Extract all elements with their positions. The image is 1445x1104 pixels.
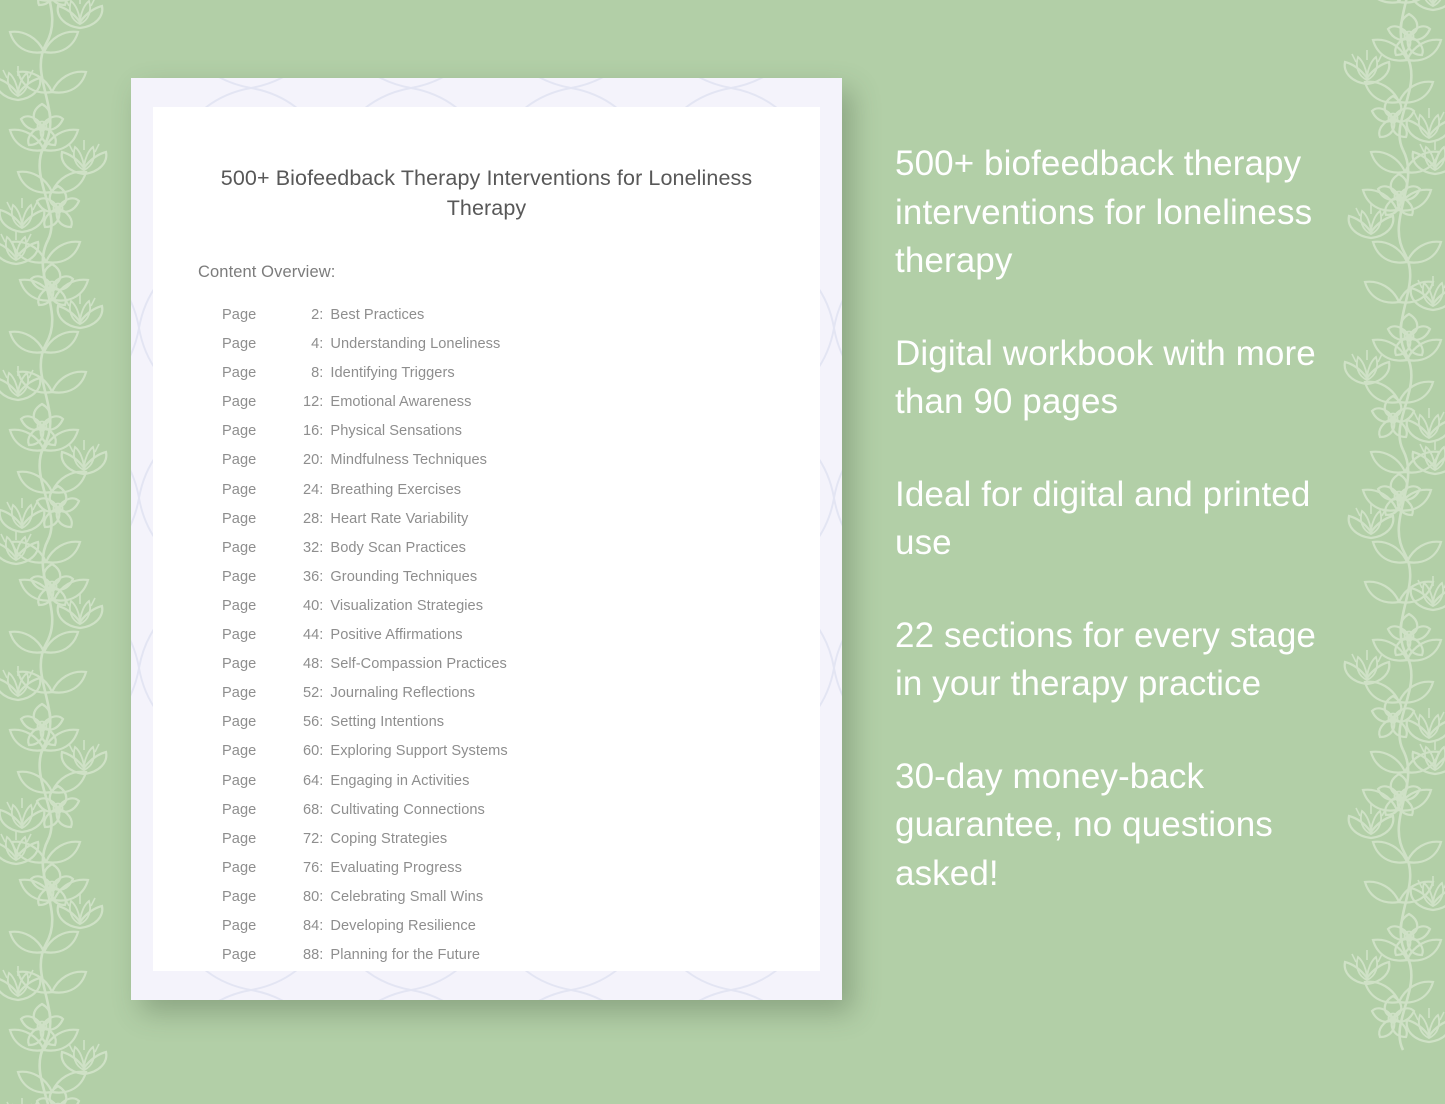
- toc-entry[interactable]: Page8:Identifying Triggers: [222, 359, 820, 388]
- toc-page-number: 84: [260, 912, 319, 941]
- marketing-copy-block: Ideal for digital and printed use: [895, 471, 1325, 568]
- toc-separator: :: [319, 737, 330, 766]
- toc-entry[interactable]: Page44:Positive Affirmations: [222, 621, 820, 650]
- toc-page-number: 2: [260, 301, 319, 330]
- toc-page-number: 80: [260, 883, 319, 912]
- toc-separator: :: [319, 417, 330, 446]
- toc-page-number: 76: [260, 854, 319, 883]
- toc-page-word: Page: [222, 476, 260, 505]
- toc-entry[interactable]: Page16:Physical Sensations: [222, 417, 820, 446]
- toc-page-word: Page: [222, 970, 260, 971]
- toc-page-number: 52: [260, 679, 319, 708]
- floral-vine-left-icon: [0, 0, 138, 1104]
- toc-page-word: Page: [222, 592, 260, 621]
- toc-entry[interactable]: Page84:Developing Resilience: [222, 912, 820, 941]
- toc-separator: :: [319, 679, 330, 708]
- toc-page-word: Page: [222, 563, 260, 592]
- toc-page-number: 16: [260, 417, 319, 446]
- toc-entry-title: Journaling Reflections: [330, 679, 475, 708]
- toc-page-number: 24: [260, 476, 319, 505]
- toc-entry-title: Planning for the Future: [330, 941, 480, 970]
- marketing-copy-block: 22 sections for every stage in your ther…: [895, 612, 1325, 709]
- toc-page-word: Page: [222, 417, 260, 446]
- toc-entry-title: Understanding Loneliness: [330, 330, 500, 359]
- toc-entry[interactable]: Page92:Notes Template: [222, 970, 820, 971]
- toc-separator: :: [319, 650, 330, 679]
- content-overview-label: Content Overview:: [153, 223, 820, 282]
- toc-page-word: Page: [222, 301, 260, 330]
- toc-entry[interactable]: Page64:Engaging in Activities: [222, 767, 820, 796]
- toc-separator: :: [319, 621, 330, 650]
- toc-separator: :: [319, 883, 330, 912]
- toc-page-number: 32: [260, 534, 319, 563]
- toc-entry-title: Exploring Support Systems: [330, 737, 507, 766]
- toc-page-number: 40: [260, 592, 319, 621]
- toc-entry-title: Mindfulness Techniques: [330, 446, 487, 475]
- document-preview-card[interactable]: 500+ Biofeedback Therapy Interventions f…: [131, 78, 842, 1000]
- toc-entry-title: Grounding Techniques: [330, 563, 477, 592]
- toc-page-word: Page: [222, 708, 260, 737]
- toc-page-word: Page: [222, 941, 260, 970]
- toc-entry-title: Celebrating Small Wins: [330, 883, 483, 912]
- toc-entry-title: Body Scan Practices: [330, 534, 466, 563]
- toc-page-word: Page: [222, 767, 260, 796]
- toc-page-number: 28: [260, 505, 319, 534]
- toc-page-number: 36: [260, 563, 319, 592]
- toc-page-number: 44: [260, 621, 319, 650]
- toc-separator: :: [319, 825, 330, 854]
- toc-entry-title: Engaging in Activities: [330, 767, 469, 796]
- toc-separator: :: [319, 970, 330, 971]
- toc-entry-title: Physical Sensations: [330, 417, 462, 446]
- toc-page-word: Page: [222, 330, 260, 359]
- toc-entry-title: Notes Template: [330, 970, 432, 971]
- table-of-contents: Page2:Best PracticesPage4:Understanding …: [153, 282, 820, 971]
- toc-page-word: Page: [222, 359, 260, 388]
- toc-entry[interactable]: Page88:Planning for the Future: [222, 941, 820, 970]
- toc-entry[interactable]: Page36:Grounding Techniques: [222, 563, 820, 592]
- toc-page-word: Page: [222, 737, 260, 766]
- toc-entry-title: Developing Resilience: [330, 912, 475, 941]
- toc-separator: :: [319, 767, 330, 796]
- toc-page-number: 68: [260, 796, 319, 825]
- toc-page-number: 60: [260, 737, 319, 766]
- toc-separator: :: [319, 708, 330, 737]
- toc-entry[interactable]: Page40:Visualization Strategies: [222, 592, 820, 621]
- toc-page-word: Page: [222, 505, 260, 534]
- toc-entry-title: Self-Compassion Practices: [330, 650, 506, 679]
- toc-entry-title: Visualization Strategies: [330, 592, 483, 621]
- toc-separator: :: [319, 388, 330, 417]
- toc-separator: :: [319, 446, 330, 475]
- toc-page-number: 8: [260, 359, 319, 388]
- toc-page-word: Page: [222, 388, 260, 417]
- toc-entry[interactable]: Page52:Journaling Reflections: [222, 679, 820, 708]
- toc-separator: :: [319, 505, 330, 534]
- toc-separator: :: [319, 796, 330, 825]
- toc-separator: :: [319, 476, 330, 505]
- toc-page-number: 20: [260, 446, 319, 475]
- page-title: 500+ Biofeedback Therapy Interventions f…: [153, 107, 820, 223]
- document-page: 500+ Biofeedback Therapy Interventions f…: [153, 107, 820, 971]
- toc-entry-title: Heart Rate Variability: [330, 505, 468, 534]
- toc-page-word: Page: [222, 650, 260, 679]
- toc-entry[interactable]: Page48:Self-Compassion Practices: [222, 650, 820, 679]
- toc-entry-title: Coping Strategies: [330, 825, 447, 854]
- toc-entry[interactable]: Page12:Emotional Awareness: [222, 388, 820, 417]
- toc-entry[interactable]: Page56:Setting Intentions: [222, 708, 820, 737]
- marketing-copy-block: 500+ biofeedback therapy interventions f…: [895, 140, 1325, 286]
- toc-separator: :: [319, 592, 330, 621]
- toc-page-word: Page: [222, 825, 260, 854]
- toc-entry[interactable]: Page76:Evaluating Progress: [222, 854, 820, 883]
- marketing-copy-column: 500+ biofeedback therapy interventions f…: [895, 140, 1325, 898]
- toc-entry-title: Positive Affirmations: [330, 621, 462, 650]
- toc-entry[interactable]: Page20:Mindfulness Techniques: [222, 446, 820, 475]
- toc-entry[interactable]: Page60:Exploring Support Systems: [222, 737, 820, 766]
- toc-entry-title: Best Practices: [330, 301, 424, 330]
- toc-entry-title: Breathing Exercises: [330, 476, 461, 505]
- toc-entry-title: Identifying Triggers: [330, 359, 454, 388]
- toc-page-number: 72: [260, 825, 319, 854]
- toc-separator: :: [319, 854, 330, 883]
- toc-separator: :: [319, 359, 330, 388]
- toc-separator: :: [319, 301, 330, 330]
- toc-entry-title: Setting Intentions: [330, 708, 444, 737]
- toc-separator: :: [319, 912, 330, 941]
- toc-page-number: 12: [260, 388, 319, 417]
- floral-vine-right-icon: [1313, 0, 1445, 1104]
- toc-entry[interactable]: Page2:Best Practices: [222, 301, 820, 330]
- toc-entry[interactable]: Page32:Body Scan Practices: [222, 534, 820, 563]
- toc-entry[interactable]: Page24:Breathing Exercises: [222, 476, 820, 505]
- toc-page-number: 64: [260, 767, 319, 796]
- toc-page-word: Page: [222, 621, 260, 650]
- toc-page-word: Page: [222, 534, 260, 563]
- toc-page-word: Page: [222, 854, 260, 883]
- toc-entry-title: Evaluating Progress: [330, 854, 462, 883]
- toc-page-number: 88: [260, 941, 319, 970]
- toc-page-number: 48: [260, 650, 319, 679]
- toc-page-number: 56: [260, 708, 319, 737]
- toc-entry[interactable]: Page28:Heart Rate Variability: [222, 505, 820, 534]
- toc-separator: :: [319, 330, 330, 359]
- toc-entry[interactable]: Page72:Coping Strategies: [222, 825, 820, 854]
- marketing-copy-block: 30-day money-back guarantee, no question…: [895, 753, 1325, 899]
- toc-separator: :: [319, 534, 330, 563]
- toc-page-word: Page: [222, 446, 260, 475]
- toc-entry[interactable]: Page4:Understanding Loneliness: [222, 330, 820, 359]
- toc-page-number: 4: [260, 330, 319, 359]
- toc-entry-title: Emotional Awareness: [330, 388, 471, 417]
- toc-entry-title: Cultivating Connections: [330, 796, 484, 825]
- marketing-copy-block: Digital workbook with more than 90 pages: [895, 330, 1325, 427]
- toc-page-number: 92: [260, 970, 319, 971]
- toc-page-word: Page: [222, 912, 260, 941]
- toc-separator: :: [319, 563, 330, 592]
- toc-page-word: Page: [222, 883, 260, 912]
- toc-page-word: Page: [222, 679, 260, 708]
- toc-separator: :: [319, 941, 330, 970]
- toc-entry[interactable]: Page68:Cultivating Connections: [222, 796, 820, 825]
- toc-entry[interactable]: Page80:Celebrating Small Wins: [222, 883, 820, 912]
- toc-page-word: Page: [222, 796, 260, 825]
